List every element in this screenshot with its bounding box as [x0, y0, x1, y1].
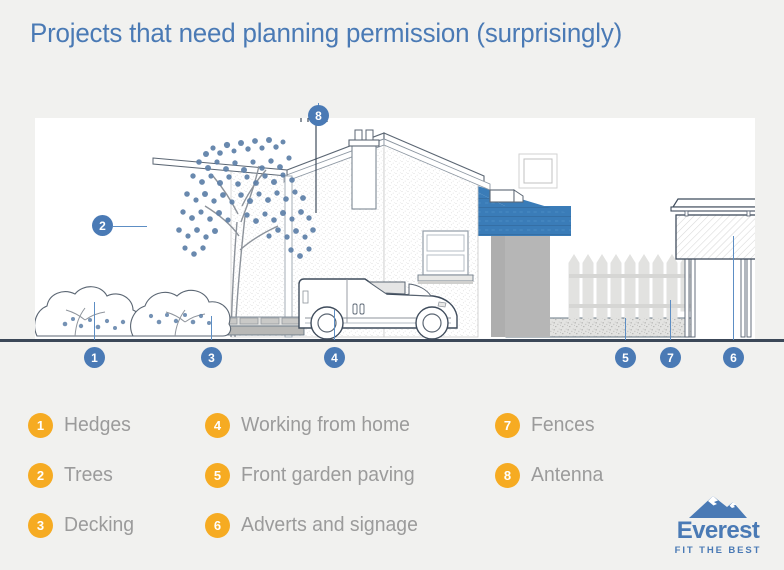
leader-line-1 [94, 302, 95, 340]
legend-badge-6: 6 [205, 513, 230, 538]
scene-marker-3[interactable]: 3 [201, 347, 222, 368]
house-window-shape [418, 231, 473, 284]
legend-badge-3: 3 [28, 513, 53, 538]
legend-column-2: 4 Working from home 5 Front garden pavin… [205, 400, 423, 550]
hedges-shape [35, 287, 231, 336]
legend-item-trees[interactable]: 2 Trees [28, 450, 136, 500]
mountain-icon [687, 494, 749, 518]
legend-item-hedges[interactable]: 1 Hedges [28, 400, 136, 450]
scene-marker-1[interactable]: 1 [84, 347, 105, 368]
leader-line-4 [334, 310, 335, 340]
legend-item-fences[interactable]: 7 Fences [495, 400, 606, 450]
legend-column-1: 1 Hedges 2 Trees 3 Decking [28, 400, 136, 550]
fence-shape [569, 255, 691, 318]
scene-marker-7[interactable]: 7 [660, 347, 681, 368]
scene-marker-5[interactable]: 5 [615, 347, 636, 368]
roof-window-shape [519, 154, 557, 188]
scene-marker-8[interactable]: 8 [308, 105, 329, 126]
legend-item-front-garden-paving[interactable]: 5 Front garden paving [205, 450, 423, 500]
legend-item-working-from-home[interactable]: 4 Working from home [205, 400, 423, 450]
legend-item-adverts-and-signage[interactable]: 6 Adverts and signage [205, 500, 423, 550]
logo-wordmark: Everest [666, 519, 770, 543]
chimney-shape [349, 130, 379, 209]
legend-badge-1: 1 [28, 413, 53, 438]
infographic-canvas: Projects that need planning permission (… [0, 0, 784, 570]
leader-line-6 [733, 236, 734, 340]
legend-label-6: Adverts and signage [241, 514, 418, 537]
illustration-panel [35, 118, 755, 340]
scene-marker-6[interactable]: 6 [723, 347, 744, 368]
everest-logo[interactable]: Everest FIT THE BEST [666, 494, 770, 556]
legend-label-2: Trees [64, 464, 113, 487]
leader-line-5 [625, 318, 626, 340]
legend-label-8: Antenna [531, 464, 603, 487]
legend-label-1: Hedges [64, 414, 131, 437]
page-title: Projects that need planning permission (… [30, 18, 622, 49]
legend-item-antenna[interactable]: 8 Antenna [495, 450, 606, 500]
legend-column-3: 7 Fences 8 Antenna [495, 400, 606, 500]
legend-label-5: Front garden paving [241, 464, 415, 487]
legend-label-4: Working from home [241, 414, 410, 437]
house-scene-illustration [35, 118, 755, 340]
legend-label-3: Decking [64, 514, 134, 537]
gutter-shape [490, 190, 523, 202]
leader-line-3 [211, 316, 212, 340]
scene-marker-2[interactable]: 2 [92, 215, 113, 236]
legend-badge-5: 5 [205, 463, 230, 488]
legend-badge-4: 4 [205, 413, 230, 438]
legend-label-7: Fences [531, 414, 595, 437]
legend-badge-2: 2 [28, 463, 53, 488]
legend-item-decking[interactable]: 3 Decking [28, 500, 136, 550]
leader-line-7 [670, 300, 671, 340]
legend-badge-7: 7 [495, 413, 520, 438]
scene-marker-4[interactable]: 4 [324, 347, 345, 368]
leader-line-2 [113, 226, 147, 227]
legend-badge-8: 8 [495, 463, 520, 488]
ground-line [0, 339, 784, 342]
logo-tagline: FIT THE BEST [666, 545, 770, 556]
